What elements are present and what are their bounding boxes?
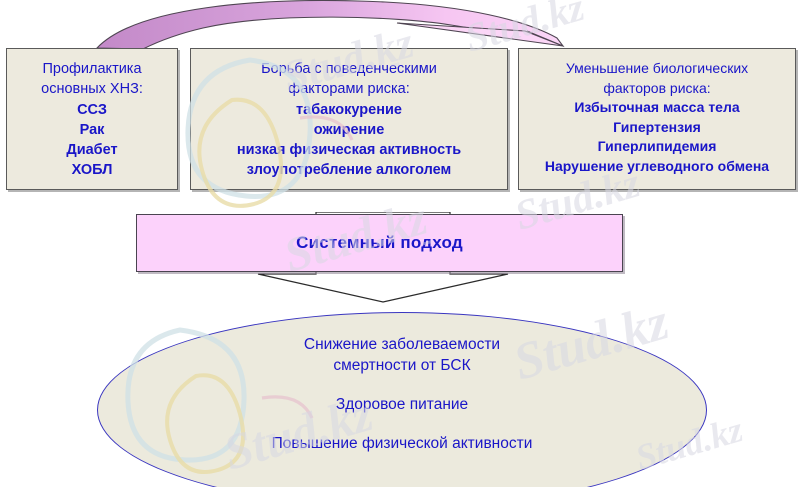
line: Борьба с поведенческими bbox=[191, 59, 507, 79]
line: факторами риска: bbox=[191, 79, 507, 99]
box-behaviour-lines: Борьба с поведенческими факторами риска:… bbox=[191, 49, 507, 181]
top-sweep-arrow-icon bbox=[95, 0, 565, 54]
box-biological: Уменьшение биологических факторов риска:… bbox=[518, 48, 796, 190]
line: злоупотребление алкоголем bbox=[191, 160, 507, 180]
box-system: Системный подход bbox=[136, 214, 623, 272]
box-biological-lines: Уменьшение биологических факторов риска:… bbox=[519, 49, 795, 177]
line: табакокурение bbox=[191, 100, 507, 120]
outcome-paragraph: Повышение физической активности bbox=[98, 434, 706, 455]
line: Здоровое питание bbox=[98, 395, 706, 416]
line: ожирение bbox=[191, 120, 507, 140]
line: факторов риска: bbox=[519, 79, 795, 99]
line: Профилактика bbox=[7, 59, 177, 79]
ellipse-outcomes: Снижение заболеваемости смертности от БС… bbox=[97, 312, 707, 487]
line: Рак bbox=[7, 120, 177, 140]
line: Гиперлипидемия bbox=[519, 137, 795, 157]
ellipse-outcomes-text: Снижение заболеваемости смертности от БС… bbox=[98, 335, 706, 455]
line: Уменьшение биологических bbox=[519, 59, 795, 79]
box-prevention: Профилактика основных ХНЗ: ССЗ Рак Диабе… bbox=[6, 48, 178, 190]
line: Гипертензия bbox=[519, 118, 795, 138]
box-behaviour: Борьба с поведенческими факторами риска:… bbox=[190, 48, 508, 190]
line: Диабет bbox=[7, 140, 177, 160]
box-system-label: Системный подход bbox=[296, 233, 463, 253]
line: основных ХНЗ: bbox=[7, 79, 177, 99]
line: ХОБЛ bbox=[7, 160, 177, 180]
line: низкая физическая активность bbox=[191, 140, 507, 160]
line: Снижение заболеваемости bbox=[98, 335, 706, 356]
line: ССЗ bbox=[7, 100, 177, 120]
line: Повышение физической активности bbox=[98, 434, 706, 455]
outcome-paragraph: Снижение заболеваемости смертности от БС… bbox=[98, 335, 706, 377]
outcome-paragraph: Здоровое питание bbox=[98, 395, 706, 416]
diagram-canvas: Профилактика основных ХНЗ: ССЗ Рак Диабе… bbox=[0, 0, 800, 487]
line: Избыточная масса тела bbox=[519, 98, 795, 118]
line: Нарушение углеводного обмена bbox=[519, 157, 795, 177]
line: смертности от БСК bbox=[98, 356, 706, 377]
box-prevention-lines: Профилактика основных ХНЗ: ССЗ Рак Диабе… bbox=[7, 49, 177, 181]
